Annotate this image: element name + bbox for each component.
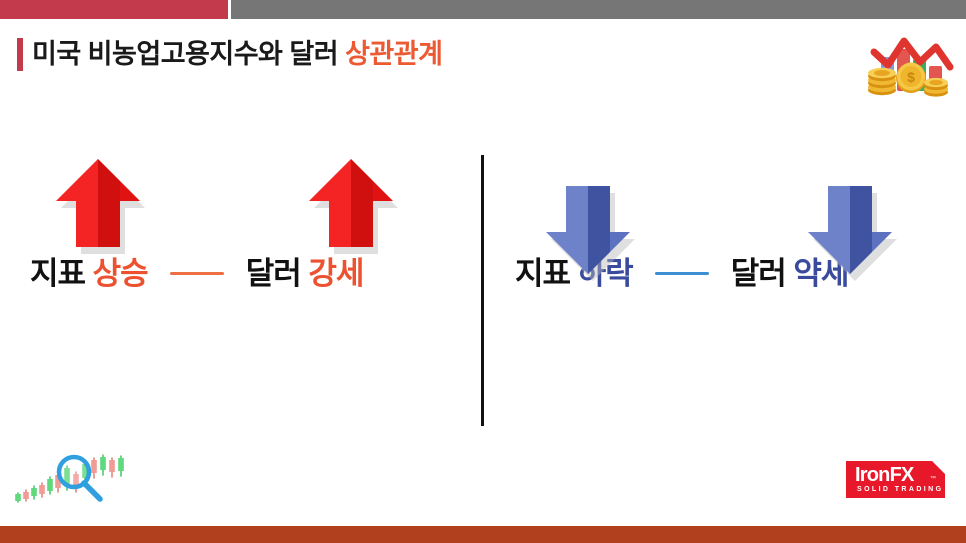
top-bar-gray-segment	[231, 0, 966, 19]
left-term-dollar-emphasis: 강세	[308, 256, 363, 291]
up-arrow-icon-indicator	[50, 153, 146, 257]
bottom-bar	[0, 526, 966, 543]
logo-trademark-icon: ™	[930, 476, 936, 482]
left-relation-connector	[170, 272, 224, 275]
down-arrow-icon-indicator	[540, 180, 636, 284]
candlestick-magnifier-icon	[12, 452, 136, 508]
right-term-dollar-plain: 달러	[731, 256, 794, 291]
slide-canvas: 미국 비농업고용지수와 달러 상관관계	[0, 0, 966, 543]
page-title-plain: 미국 비농업고용지수와 달러	[32, 39, 345, 69]
ironfx-logo: IronFX ™ SOLID TRADING	[846, 461, 945, 498]
left-term-dollar-plain: 달러	[246, 256, 309, 291]
left-term-indicator-plain: 지표	[30, 256, 93, 291]
logo-wordmark: IronFX	[855, 464, 914, 486]
right-relation-connector	[655, 272, 709, 275]
left-term-indicator-emphasis: 상승	[93, 256, 148, 291]
finance-coins-barchart-icon: $	[858, 28, 962, 100]
left-relation-panel: 지표 상승 달러 강세	[0, 140, 481, 440]
title-accent-bar	[17, 38, 23, 71]
down-arrow-icon-dollar	[802, 180, 898, 284]
left-term-indicator: 지표 상승	[30, 258, 148, 289]
logo-corner-notch	[932, 461, 945, 474]
top-bar-red-segment	[0, 0, 228, 19]
left-term-dollar: 달러 강세	[246, 258, 364, 289]
page-title-highlight: 상관관계	[345, 39, 442, 69]
logo-tagline: SOLID TRADING	[857, 486, 943, 494]
svg-text:$: $	[907, 69, 915, 85]
left-relation-row: 지표 상승 달러 강세	[30, 258, 363, 289]
up-arrow-icon-dollar	[303, 153, 399, 257]
page-title: 미국 비농업고용지수와 달러 상관관계	[32, 36, 442, 72]
